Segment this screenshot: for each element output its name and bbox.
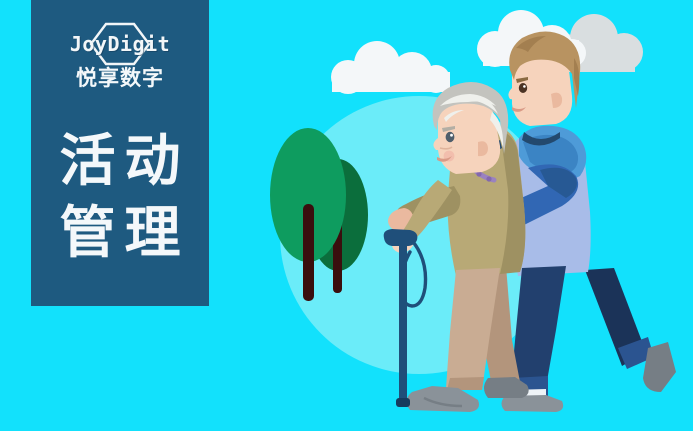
brand-logo: JoyDigit 悦享数字 — [31, 22, 209, 108]
elderly-woman-head — [433, 82, 509, 174]
page-title-line-2: 管理 — [31, 197, 209, 269]
page-title-line-1: 活动 — [31, 125, 209, 197]
young-man-head — [508, 31, 580, 126]
banner-image: JoyDigit 悦享数字 活动 管理 — [0, 0, 693, 431]
title-panel: JoyDigit 悦享数字 活动 管理 — [31, 0, 209, 306]
page-title: 活动 管理 — [31, 125, 209, 269]
brand-name-chinese: 悦享数字 — [31, 66, 209, 92]
brand-wordmark: JoyDigit — [31, 30, 209, 58]
